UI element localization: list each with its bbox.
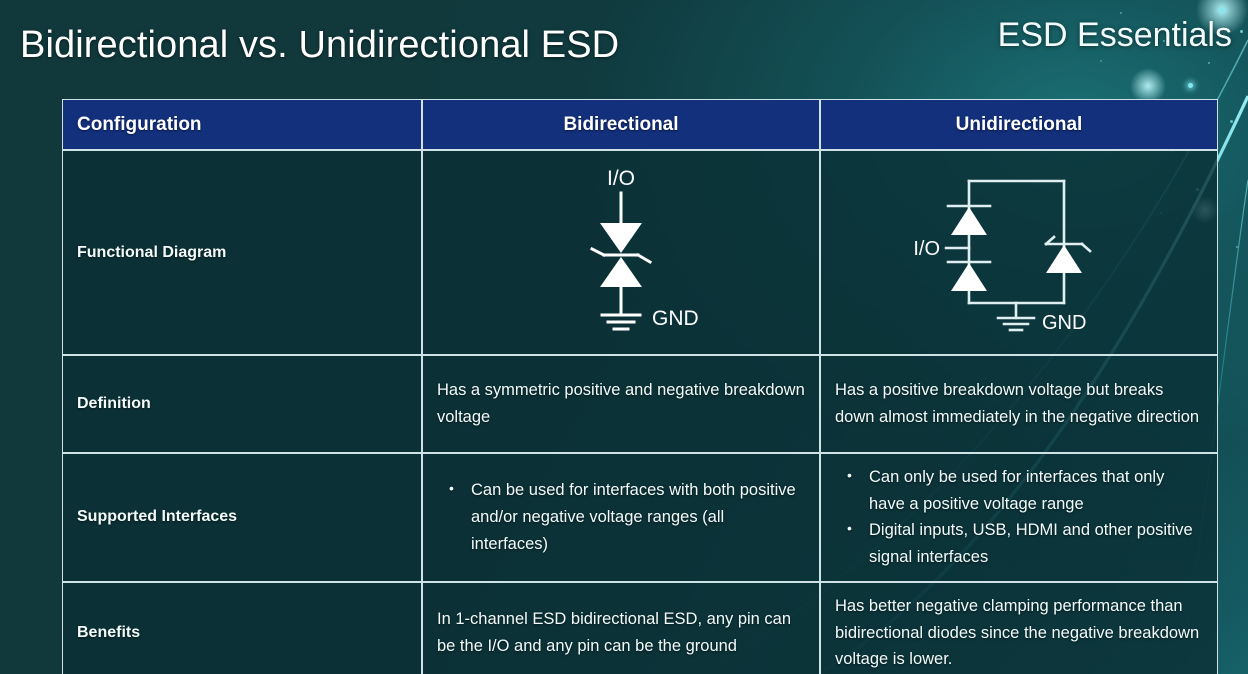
cell-bullet-list-wrap: Can be used for interfaces with both pos…	[423, 467, 819, 567]
slide-kicker: ESD Essentials	[998, 16, 1232, 55]
bidirectional-tvs-diode-icon: I/O	[526, 163, 716, 343]
table-row: Supported Interfaces Can be used for int…	[62, 453, 1218, 582]
cell-bidirectional-definition: Has a symmetric positive and negative br…	[422, 355, 820, 453]
comparison-table: Configuration Bidirectional Unidirection…	[62, 99, 1218, 674]
svg-text:GND: GND	[652, 307, 699, 330]
column-header-bidirectional: Bidirectional	[422, 99, 820, 150]
column-header-unidirectional: Unidirectional	[820, 99, 1218, 150]
table-row: Definition Has a symmetric positive and …	[62, 355, 1218, 453]
list-item: Digital inputs, USB, HDMI and other posi…	[857, 517, 1203, 570]
list-item: Can be used for interfaces with both pos…	[459, 477, 805, 557]
svg-text:I/O: I/O	[913, 238, 940, 260]
bullet-list: Can be used for interfaces with both pos…	[437, 477, 805, 557]
svg-text:I/O: I/O	[607, 167, 635, 190]
table-row: Benefits In 1-channel ESD bidirectional …	[62, 582, 1218, 674]
row-label-benefits: Benefits	[62, 582, 422, 674]
list-item: Can only be used for interfaces that onl…	[857, 464, 1203, 517]
cell-text: Has a symmetric positive and negative br…	[423, 367, 819, 440]
row-label-text: Definition	[63, 387, 421, 421]
cell-unidirectional-supported-interfaces: Can only be used for interfaces that onl…	[820, 453, 1218, 582]
cell-bidirectional-benefits: In 1-channel ESD bidirectional ESD, any …	[422, 582, 820, 674]
column-header-configuration: Configuration	[62, 99, 422, 150]
cell-unidirectional-definition: Has a positive breakdown voltage but bre…	[820, 355, 1218, 453]
cell-bidirectional-diagram: I/O	[422, 150, 820, 355]
cell-bidirectional-supported-interfaces: Can be used for interfaces with both pos…	[422, 453, 820, 582]
row-label-text: Functional Diagram	[63, 236, 421, 270]
row-label-supported-interfaces: Supported Interfaces	[62, 453, 422, 582]
slide-title: Bidirectional vs. Unidirectional ESD	[20, 24, 619, 67]
row-label-text: Supported Interfaces	[63, 500, 421, 534]
row-label-text: Benefits	[63, 616, 421, 650]
cell-unidirectional-diagram: I/O	[820, 150, 1218, 355]
table-row: Functional Diagram I/O	[62, 150, 1218, 355]
table-header-row: Configuration Bidirectional Unidirection…	[62, 99, 1218, 150]
bullet-list: Can only be used for interfaces that onl…	[835, 464, 1203, 571]
slide-canvas: Bidirectional vs. Unidirectional ESD ESD…	[0, 0, 1248, 674]
row-label-definition: Definition	[62, 355, 422, 453]
cell-text: In 1-channel ESD bidirectional ESD, any …	[423, 596, 819, 669]
cell-bullet-list-wrap: Can only be used for interfaces that onl…	[821, 454, 1217, 581]
row-label-functional-diagram: Functional Diagram	[62, 150, 422, 355]
cell-unidirectional-benefits: Has better negative clamping performance…	[820, 582, 1218, 674]
cell-text: Has a positive breakdown voltage but bre…	[821, 367, 1217, 440]
unidirectional-diode-array-icon: I/O	[894, 163, 1144, 343]
cell-text: Has better negative clamping performance…	[821, 583, 1217, 674]
svg-text:GND: GND	[1042, 312, 1086, 334]
